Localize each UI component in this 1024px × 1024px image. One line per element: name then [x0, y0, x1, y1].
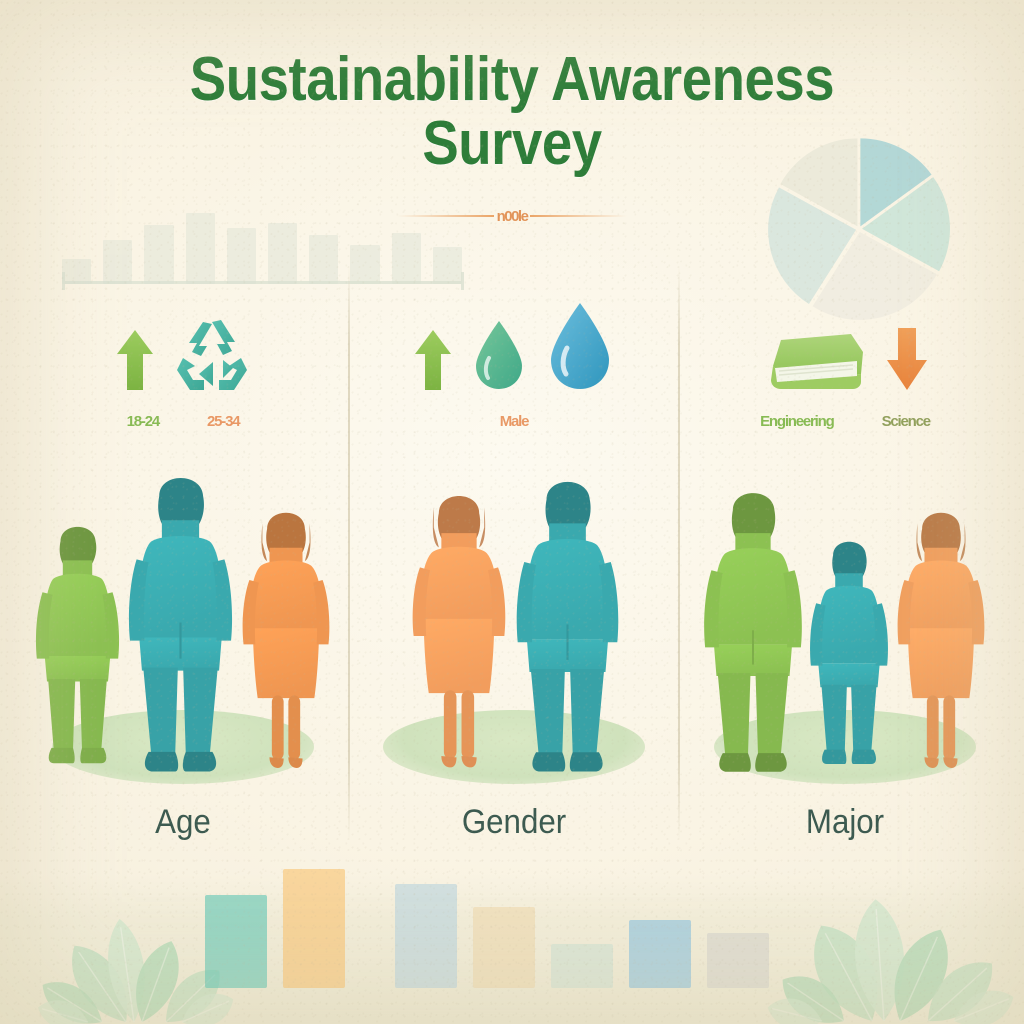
divider-line-right: [530, 215, 627, 217]
panel-age-mini-labels: 18-2425-34: [18, 402, 348, 440]
panel-major[interactable]: EngineeringScience: [680, 250, 1010, 870]
divider-label: n00le: [494, 208, 531, 225]
figure-adult-female: [227, 494, 345, 776]
mini-label-gender-0: Male: [500, 413, 529, 430]
bottom-bar: [395, 884, 457, 988]
up-arrow-icon: [413, 328, 453, 392]
panel-divider-1: [348, 265, 350, 840]
page-title: Sustainability Awareness Survey: [61, 48, 962, 176]
title-line-2: Survey: [61, 112, 962, 176]
bottom-bar-chart-gender: [395, 883, 769, 988]
panel-major-figures: [680, 446, 1010, 776]
book-icon: [761, 330, 867, 392]
panel-age-figures: [18, 446, 348, 776]
mini-label-age-0: 18-24: [127, 413, 159, 430]
bottom-bar: [707, 933, 769, 988]
mini-label-major-0: Engineering: [760, 413, 833, 430]
bottom-bar: [551, 944, 613, 988]
mini-label-age-1: 25-34: [207, 413, 239, 430]
down-arrow-icon: [885, 326, 929, 392]
panel-gender-figures: [350, 446, 678, 776]
bottom-bar-chart-age: [205, 868, 345, 988]
panel-gender-mini-labels: Male: [350, 402, 678, 440]
panel-major-icon-row: [680, 306, 1010, 392]
panel-gender-label: Gender: [363, 803, 665, 842]
divider-line-left: [397, 215, 494, 217]
water-drop-small-icon: [471, 318, 527, 392]
bottom-bar: [205, 895, 267, 988]
panel-major-mini-labels: EngineeringScience: [680, 402, 1010, 440]
infographic-poster: Sustainability Awareness Survey n00le: [0, 0, 1024, 1024]
recycle-icon: [173, 318, 251, 392]
figure-male: [502, 464, 633, 776]
panel-divider-2: [678, 265, 680, 840]
panel-age[interactable]: 18-2425-34: [18, 250, 348, 870]
panel-gender-icon-row: [350, 306, 678, 392]
title-line-1: Sustainability Awareness: [190, 45, 834, 114]
bottom-bar: [473, 907, 535, 988]
panel-major-label: Major: [693, 803, 997, 842]
bottom-bar: [283, 869, 345, 988]
up-arrow-icon: [115, 328, 155, 392]
panel-age-icon-row: [18, 306, 348, 392]
bottom-bar: [629, 920, 691, 988]
panel-gender[interactable]: Male: [350, 250, 678, 870]
title-divider: n00le: [397, 196, 627, 236]
mini-label-major-1: Science: [882, 413, 930, 430]
panel-age-label: Age: [31, 803, 335, 842]
figure-arts-student: [882, 494, 1000, 776]
water-drop-large-icon: [545, 300, 615, 392]
